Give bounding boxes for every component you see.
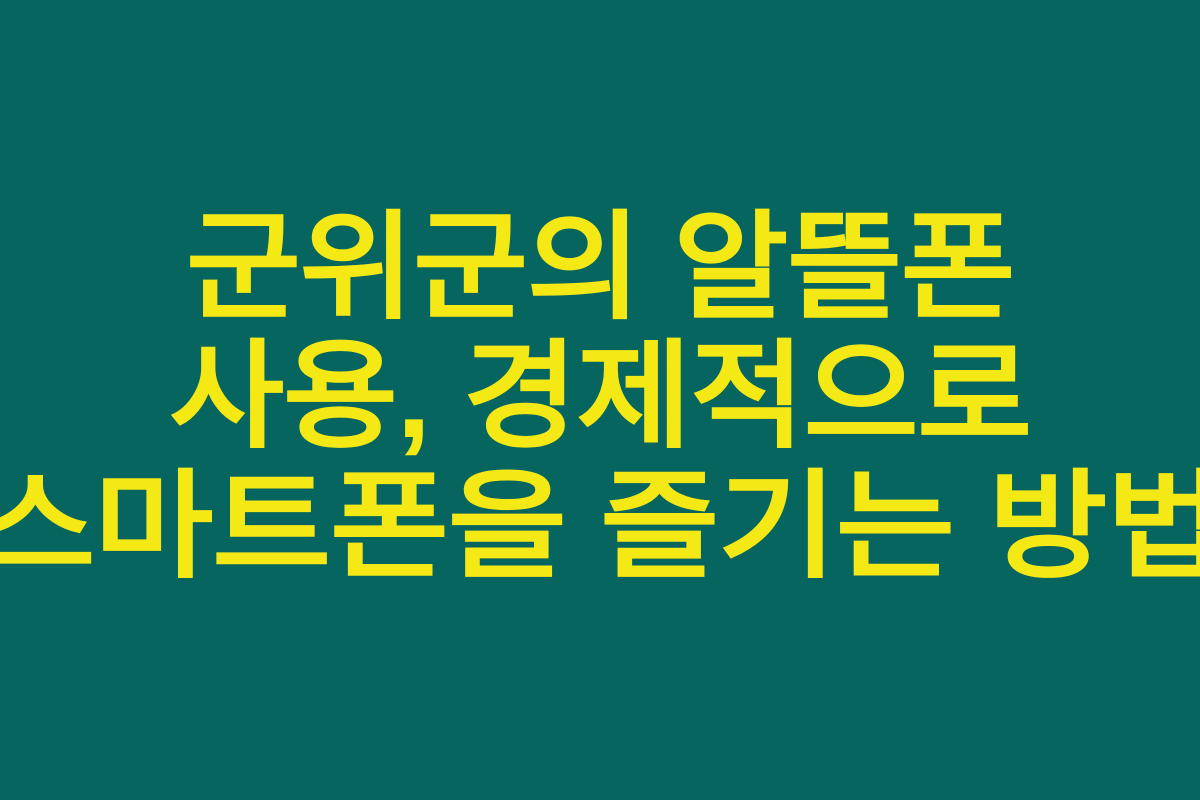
headline-line-3: 스마트폰을 즐기는 방법 xyxy=(0,468,1200,587)
thumbnail-card: 군위군의 알뜰폰 사용, 경제적으로 스마트폰을 즐기는 방법 xyxy=(0,0,1200,800)
headline-line-2: 사용, 경제적으로 xyxy=(0,338,1200,457)
headline-line-1: 군위군의 알뜰폰 xyxy=(0,209,1200,328)
headline-block: 군위군의 알뜰폰 사용, 경제적으로 스마트폰을 즐기는 방법 xyxy=(0,209,1200,587)
